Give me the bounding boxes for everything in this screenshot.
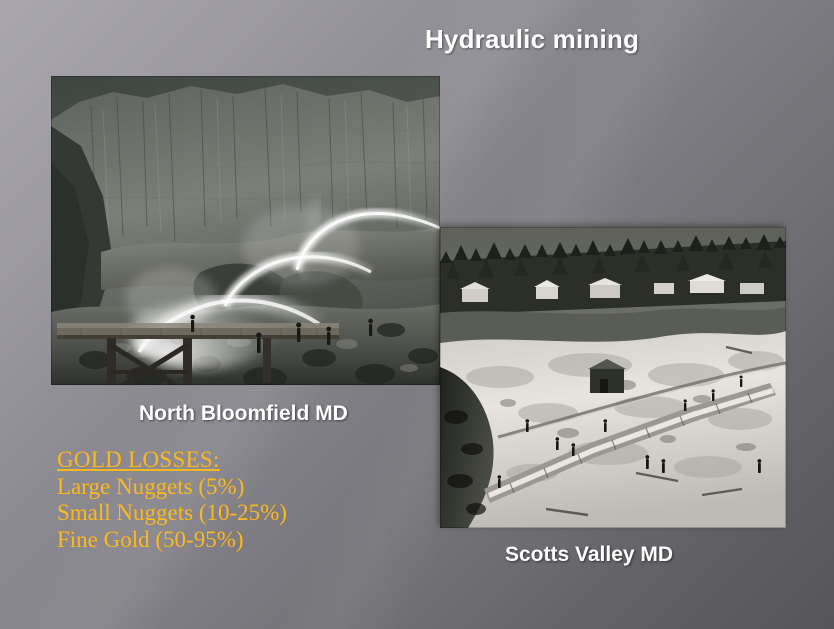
- caption-scotts-valley: Scotts Valley MD: [505, 543, 673, 567]
- slide-canvas: Hydraulic mining: [0, 0, 834, 629]
- caption-north-bloomfield: North Bloomfield MD: [139, 402, 348, 426]
- gold-losses-item-large-nuggets: Large Nuggets (5%): [57, 474, 287, 501]
- gold-losses-heading: GOLD LOSSES:: [57, 447, 287, 474]
- photo-north-bloomfield[interactable]: [51, 76, 440, 385]
- gold-losses-block: GOLD LOSSES: Large Nuggets (5%) Small Nu…: [57, 447, 287, 553]
- page-title: Hydraulic mining: [0, 24, 834, 55]
- scotts-valley-illustration: [440, 227, 786, 528]
- gold-losses-item-small-nuggets: Small Nuggets (10-25%): [57, 500, 287, 527]
- gold-losses-item-fine-gold: Fine Gold (50-95%): [57, 527, 287, 554]
- photo-scotts-valley[interactable]: [440, 227, 786, 528]
- north-bloomfield-illustration: [51, 76, 440, 385]
